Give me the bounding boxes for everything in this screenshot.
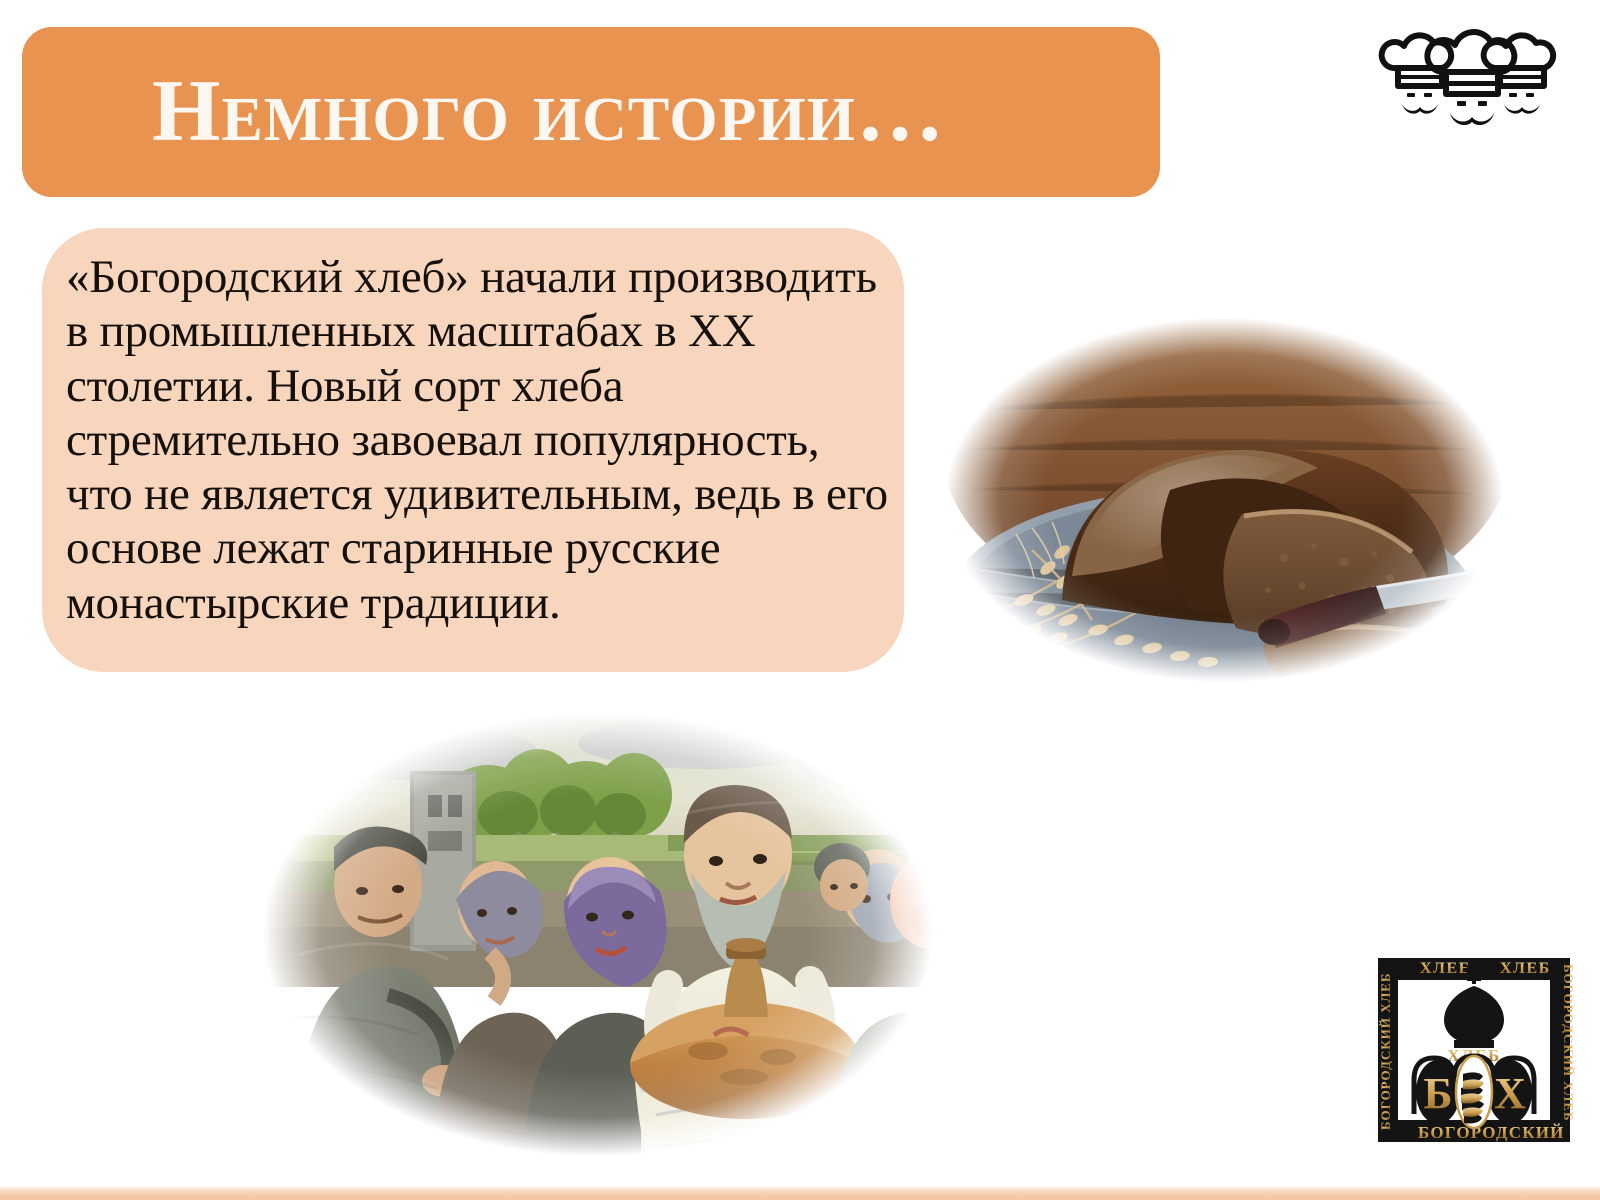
- logo-border-left-text: БОГОРОДСКИЙ ХЛЕБ: [1378, 972, 1393, 1130]
- three-chefs-icon: [1374, 20, 1566, 132]
- body-text: «Богородский хлеб» начали производить в …: [66, 250, 896, 630]
- page-title: Немного истории…: [152, 68, 945, 156]
- rye-bread-photo: [912, 300, 1512, 700]
- logo-border-top-left-text: ХЛЕБ: [1420, 960, 1471, 977]
- logo-border-top-right-text: ХЛЕБ: [1500, 960, 1551, 977]
- bread-and-salt-painting: [238, 695, 958, 1173]
- title-banner: Немного истории…: [22, 27, 1160, 197]
- logo-border-right-text: БОГОРОДСКИЙ ХЛЕБ: [1561, 964, 1576, 1122]
- logo-border-bottom-text: БОГОРОДСКИЙ: [1418, 1123, 1565, 1142]
- bogorodsky-hleb-logo: ХЛЕБ ХЛЕБ БОГОРОДСКИЙ БОГОРОДСКИЙ ХЛЕБ Б…: [1368, 942, 1580, 1150]
- presentation-slide: Немного истории…: [0, 0, 1600, 1200]
- body-text-card: «Богородский хлеб» начали производить в …: [42, 228, 904, 672]
- bottom-accent-strip: [0, 1186, 1600, 1200]
- logo-monogram-h: Х: [1494, 1069, 1526, 1118]
- logo-monogram-b: Б: [1423, 1069, 1452, 1118]
